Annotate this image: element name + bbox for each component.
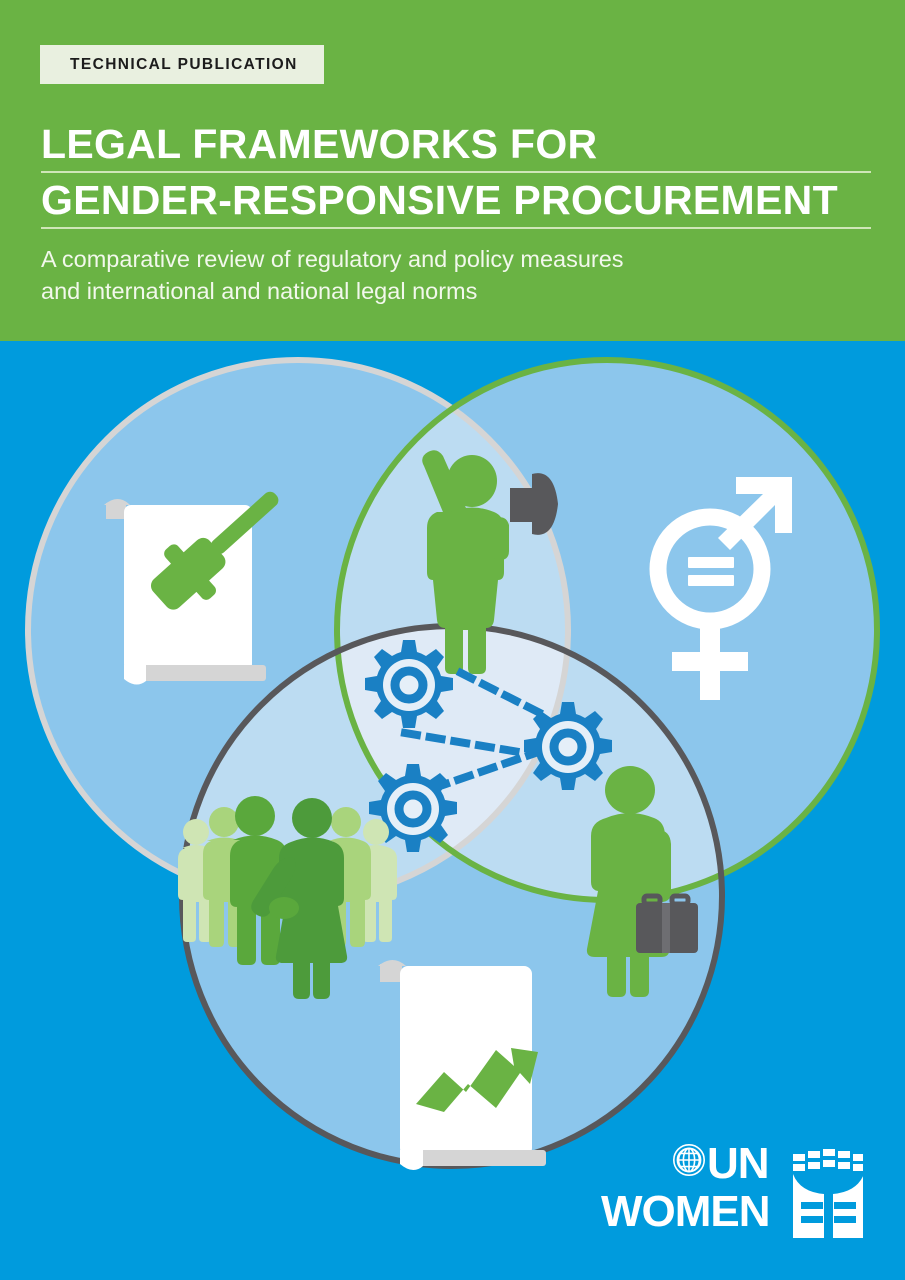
page-subtitle: A comparative review of regulatory and p…	[41, 243, 801, 307]
logo-text-women: WOMEN	[601, 1187, 770, 1236]
title-line-2: GENDER-RESPONSIVE PROCUREMENT	[41, 180, 871, 229]
subtitle-line-2: and international and national legal nor…	[41, 275, 801, 307]
un-women-logo: UN WOMEN	[595, 1138, 863, 1242]
un-women-equality-mark	[793, 1149, 863, 1238]
title-line-1: LEGAL FRAMEWORKS FOR	[41, 124, 871, 173]
gear-icon-1	[365, 640, 453, 728]
publication-type-badge: TECHNICAL PUBLICATION	[40, 45, 324, 84]
growth-chart-document-icon	[378, 960, 546, 1170]
subtitle-line-1: A comparative review of regulatory and p…	[41, 243, 801, 275]
cover-header-band: TECHNICAL PUBLICATION LEGAL FRAMEWORKS F…	[0, 0, 905, 341]
gear-icon-2	[524, 702, 612, 790]
logo-text-un: UN	[707, 1139, 769, 1188]
publication-cover-page: TECHNICAL PUBLICATION LEGAL FRAMEWORKS F…	[0, 0, 905, 1280]
un-globe-emblem	[674, 1145, 704, 1175]
page-title: LEGAL FRAMEWORKS FOR GENDER-RESPONSIVE P…	[41, 124, 871, 229]
